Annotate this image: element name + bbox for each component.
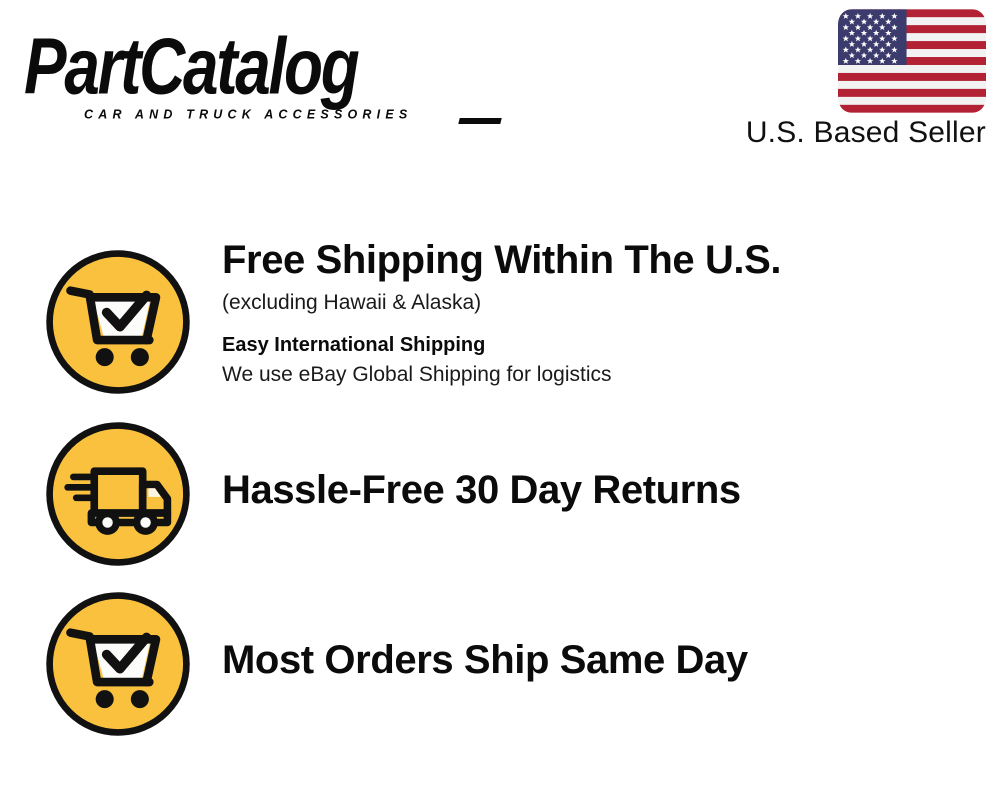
feature-subheading: Easy International Shipping <box>222 331 982 360</box>
delivery-truck-icon <box>42 418 194 570</box>
brand-wordmark: PartCatalog <box>24 28 357 107</box>
feature-subnote: (excluding Hawaii & Alaska) <box>222 287 982 319</box>
us-flag-icon <box>838 8 986 114</box>
shopping-cart-check-icon <box>42 588 194 740</box>
us-based-seller-badge: U.S. Based Seller <box>716 8 986 151</box>
brand-tagline: CAR AND TRUCK ACCESSORIES <box>84 107 412 122</box>
feature-text-block: Free Shipping Within The U.S. (excluding… <box>222 238 982 391</box>
us-based-seller-label: U.S. Based Seller <box>716 116 986 151</box>
feature-text-block: Hassle-Free 30 Day Returns <box>222 468 982 513</box>
promo-banner: PartCatalog CAR AND TRUCK ACCESSORIES <box>0 0 1000 800</box>
feature-heading: Free Shipping Within The U.S. <box>222 238 982 283</box>
feature-heading: Most Orders Ship Same Day <box>222 638 982 683</box>
feature-subtext: We use eBay Global Shipping for logistic… <box>222 360 982 390</box>
brand-logo: PartCatalog CAR AND TRUCK ACCESSORIES <box>22 16 492 121</box>
shopping-cart-check-icon <box>42 246 194 398</box>
feature-heading: Hassle-Free 30 Day Returns <box>222 468 982 513</box>
brand-underline-flourish <box>458 118 501 124</box>
feature-text-block: Most Orders Ship Same Day <box>222 638 982 683</box>
